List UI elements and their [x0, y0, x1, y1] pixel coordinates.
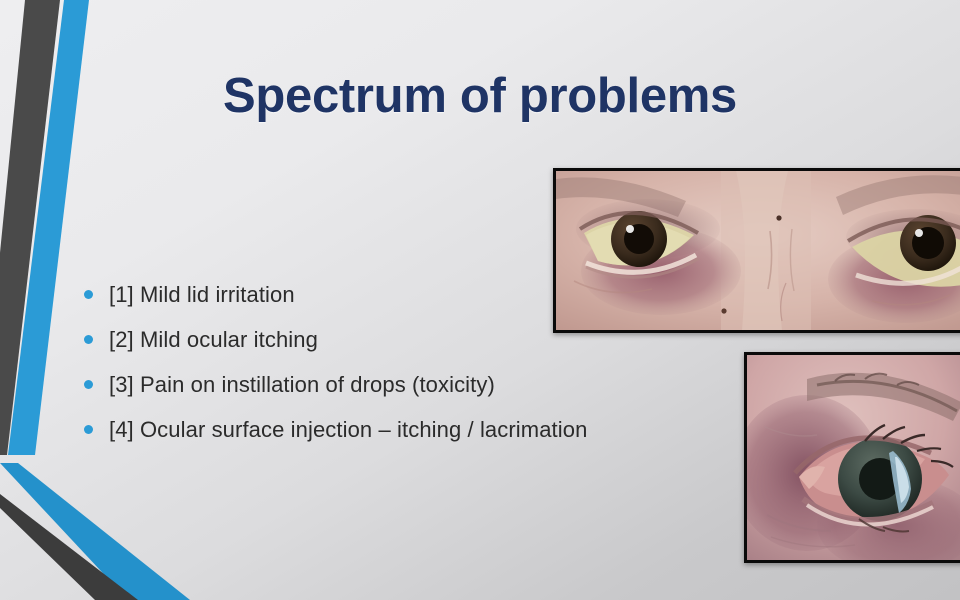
- list-item: [3] Pain on instillation of drops (toxic…: [84, 373, 684, 418]
- bullet-label: [2] Mild ocular itching: [109, 328, 318, 351]
- eye-single-photo-graphic: [747, 355, 960, 560]
- eyes-pair-photo: [553, 168, 960, 333]
- eyes-pair-photo-graphic: [556, 171, 960, 330]
- bottom-blue-bar: [0, 463, 190, 600]
- bullet-label: [1] Mild lid irritation: [109, 283, 295, 306]
- bullet-dot-icon: [84, 425, 93, 434]
- bullet-dot-icon: [84, 380, 93, 389]
- page-title: Spectrum of problems: [0, 68, 960, 124]
- bullet-dot-icon: [84, 335, 93, 344]
- list-item: [4] Ocular surface injection – itching /…: [84, 418, 684, 463]
- list-item: [2] Mild ocular itching: [84, 328, 684, 373]
- presentation-slide: Spectrum of problems [1] Mild lid irrita…: [0, 0, 960, 600]
- bullet-dot-icon: [84, 290, 93, 299]
- bullet-label: [4] Ocular surface injection – itching /…: [109, 418, 587, 441]
- bullet-label: [3] Pain on instillation of drops (toxic…: [109, 373, 495, 396]
- eye-single-photo: [744, 352, 960, 563]
- bottom-gray-bar: [0, 494, 138, 600]
